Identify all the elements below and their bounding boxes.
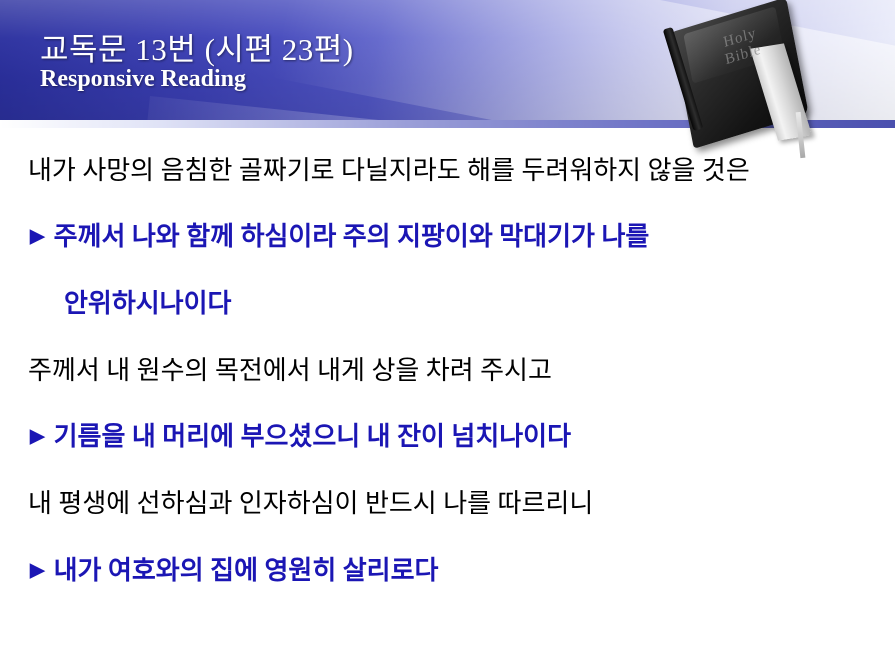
- reading-line-7-text: 내가 여호와의 집에 영원히 살리로다: [54, 556, 439, 585]
- slide-body: 내가 사망의 음침한 골짜기로 다닐지라도 해를 두려워하지 않을 것은 ▶주께…: [0, 128, 895, 667]
- reading-line-2: ▶주께서 나와 함께 하심이라 주의 지팡이와 막대기가 나를: [30, 216, 649, 253]
- triangle-right-icon: ▶: [30, 225, 45, 248]
- reading-line-6-text: 내 평생에 선하심과 인자하심이 반드시 나를 따르리니: [28, 489, 593, 518]
- reading-line-5-text: 기름을 내 머리에 부으셨으니 내 잔이 넘치나이다: [54, 422, 571, 451]
- reading-line-5: ▶기름을 내 머리에 부으셨으니 내 잔이 넘치나이다: [30, 416, 571, 453]
- reading-line-3-text: 안위하시나이다: [64, 289, 231, 318]
- reading-line-6: 내 평생에 선하심과 인자하심이 반드시 나를 따르리니: [28, 483, 593, 520]
- reading-line-7: ▶내가 여호와의 집에 영원히 살리로다: [30, 550, 438, 587]
- reading-line-3: 안위하시나이다: [64, 283, 231, 320]
- triangle-right-icon: ▶: [30, 559, 45, 582]
- reading-line-1: 내가 사망의 음침한 골짜기로 다닐지라도 해를 두려워하지 않을 것은: [28, 150, 750, 187]
- reading-line-4-text: 주께서 내 원수의 목전에서 내게 상을 차려 주시고: [28, 356, 552, 385]
- slide-title: 교독문 13번 (시편 23편): [40, 24, 354, 69]
- reading-line-1-text: 내가 사망의 음침한 골짜기로 다닐지라도 해를 두려워하지 않을 것은: [28, 156, 750, 185]
- reading-line-2-text: 주께서 나와 함께 하심이라 주의 지팡이와 막대기가 나를: [54, 222, 650, 251]
- presentation-slide: 교독문 13번 (시편 23편) Responsive Reading Holy…: [0, 0, 895, 667]
- triangle-right-icon: ▶: [30, 425, 45, 448]
- reading-line-4: 주께서 내 원수의 목전에서 내게 상을 차려 주시고: [28, 350, 552, 387]
- slide-subtitle: Responsive Reading: [40, 66, 246, 93]
